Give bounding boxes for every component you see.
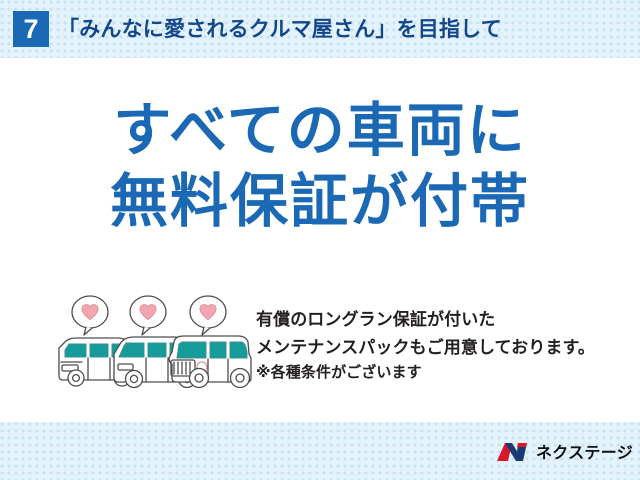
body-copy-note: ※各種条件がございます xyxy=(256,361,636,385)
heart-speech-bubble-3 xyxy=(190,296,226,335)
nexstage-n-mark-icon xyxy=(496,441,530,468)
body-copy-line-2: メンテナンスパックもご用意しております。 xyxy=(256,334,636,362)
step-number-badge: 7 xyxy=(13,11,49,47)
headline: すべての車両に 無料保証が付帯 xyxy=(0,96,640,238)
header-title: 「みんなに愛されるクルマ屋さん」を目指して xyxy=(58,13,502,47)
body-copy: 有償のロングラン保証が付いた メンテナンスパックもご用意しております。 ※各種条… xyxy=(256,306,636,385)
three-cars-with-hearts-illustration xyxy=(56,292,256,400)
brand-name: ネクステージ xyxy=(536,446,633,462)
brand-logo: ネクステージ xyxy=(496,440,633,468)
headline-line-2: 無料保証が付帯 xyxy=(0,167,640,238)
heart-speech-bubble-1 xyxy=(72,296,108,335)
body-copy-line-1: 有償のロングラン保証が付いた xyxy=(256,306,636,334)
heart-speech-bubble-2 xyxy=(130,296,166,335)
car-suv xyxy=(169,336,251,388)
slide-canvas: 7 「みんなに愛されるクルマ屋さん」を目指して すべての車両に 無料保証が付帯 xyxy=(0,0,640,480)
headline-line-1: すべての車両に xyxy=(0,96,640,167)
